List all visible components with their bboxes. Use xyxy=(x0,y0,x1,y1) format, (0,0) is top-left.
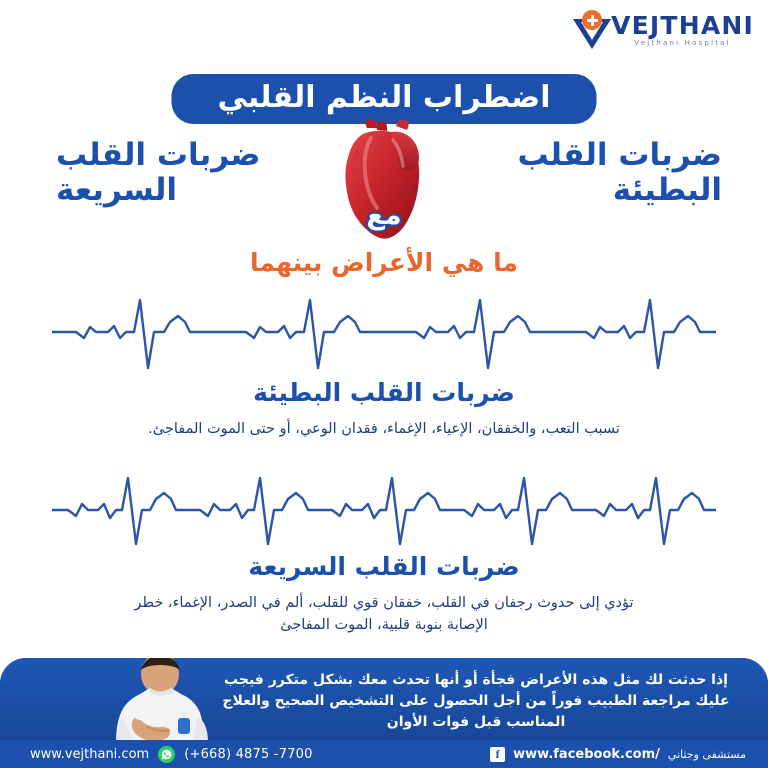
ecg-slow-waveform-icon xyxy=(52,286,716,372)
logo-text-block: VEJTHANI Vejthani Hospital xyxy=(611,13,754,47)
anatomical-heart-icon: مع xyxy=(333,118,435,244)
contact-right-group: f www.facebook.com/ مستشفى وجثاني xyxy=(490,747,746,762)
hero-center-label: مع xyxy=(366,200,401,231)
contact-left-group: www.vejthani.com (+668) 4875 -7700 xyxy=(30,746,313,763)
hero-headline: ضربات القلب البطيئة ضربات القلب السريعة xyxy=(0,132,768,244)
facebook-url[interactable]: www.facebook.com/ xyxy=(513,747,660,762)
section-heading-bradycardia: ضربات القلب البطيئة xyxy=(0,378,768,407)
logo-brand-name: VEJTHANI xyxy=(611,13,754,38)
ecg-fast-waveform-icon xyxy=(52,466,716,548)
hero-phrase-tachycardia: ضربات القلب السريعة xyxy=(56,138,266,207)
footer-banner: إذا حدثت لك مثل هذه الأعراض فجأة أو أنها… xyxy=(0,658,768,768)
symptoms-question: ما هي الأعراض بينهما xyxy=(0,248,768,277)
medical-cross-badge-icon xyxy=(582,10,602,30)
hero-phrase-bradycardia: ضربات القلب البطيئة xyxy=(512,138,722,207)
vejthani-logo: VEJTHANI Vejthani Hospital xyxy=(604,8,754,52)
section-heading-tachycardia: ضربات القلب السريعة xyxy=(0,552,768,581)
infographic-page: VEJTHANI Vejthani Hospital اضطراب النظم … xyxy=(0,0,768,768)
facebook-icon[interactable]: f xyxy=(490,747,505,762)
logo-mark-icon xyxy=(571,10,615,50)
website-link[interactable]: www.vejthani.com xyxy=(30,747,149,762)
whatsapp-icon[interactable] xyxy=(158,746,175,763)
section-body-bradycardia: تسبب التعب، والخفقان، الإعياء، الإغماء، … xyxy=(134,418,634,440)
contact-bar: www.vejthani.com (+668) 4875 -7700 f www… xyxy=(0,740,768,768)
title-banner: اضطراب النظم القلبي xyxy=(171,74,596,124)
footer-advice-message: إذا حدثت لك مثل هذه الأعراض فجأة أو أنها… xyxy=(206,670,746,733)
section-body-tachycardia: تؤدي إلى حدوث رجفان في القلب، خفقان قوي … xyxy=(124,592,644,637)
whatsapp-phone-number[interactable]: (+668) 4875 -7700 xyxy=(184,747,312,762)
logo-tagline: Vejthani Hospital xyxy=(611,40,754,47)
facebook-page-name[interactable]: مستشفى وجثاني xyxy=(668,748,746,761)
